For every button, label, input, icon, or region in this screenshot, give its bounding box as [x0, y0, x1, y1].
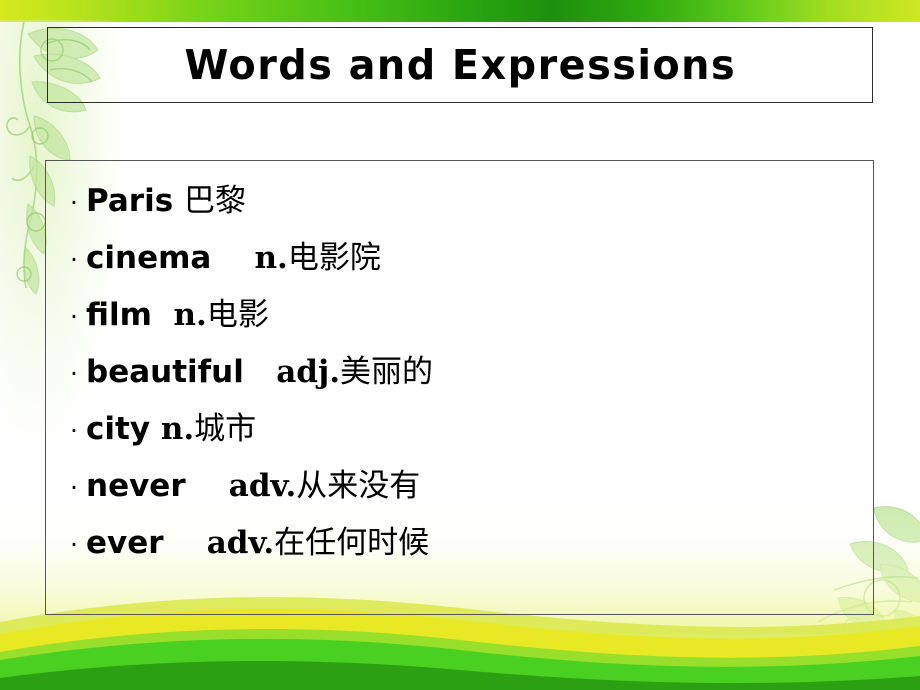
- word-text: cinema: [86, 240, 255, 276]
- vocabulary-entry: cinema n.电影院: [86, 232, 381, 277]
- page-title: Words and Expressions: [184, 41, 736, 89]
- bullet-icon: ·: [62, 532, 86, 557]
- vocabulary-entry: ever adv.在任何时候: [86, 517, 429, 562]
- vocabulary-entry: city n.城市: [86, 403, 256, 448]
- list-item: · Paris 巴黎: [46, 175, 873, 232]
- vocabulary-entry: film n.电影: [86, 289, 269, 334]
- chinese-meaning: 电影院: [288, 240, 381, 276]
- bullet-icon: ·: [62, 304, 86, 329]
- list-item: · ever adv.在任何时候: [46, 517, 873, 574]
- top-gradient-bar: [0, 0, 920, 22]
- part-of-speech: adj.: [276, 354, 340, 390]
- bullet-icon: ·: [62, 247, 86, 272]
- chinese-meaning: 美丽的: [340, 354, 433, 390]
- bullet-icon: ·: [62, 475, 86, 500]
- slide-canvas: Words and Expressions · Paris 巴黎 · cinem…: [0, 0, 920, 690]
- part-of-speech: n.: [174, 297, 207, 333]
- vocabulary-content-box: · Paris 巴黎 · cinema n.电影院 · film n.电影 · …: [45, 160, 874, 615]
- chinese-meaning: 巴黎: [184, 183, 246, 219]
- part-of-speech: n.: [161, 411, 194, 447]
- part-of-speech: n.: [255, 240, 288, 276]
- chinese-meaning: 城市: [194, 411, 256, 447]
- bullet-icon: ·: [62, 190, 86, 215]
- word-text: ever: [86, 525, 207, 561]
- bullet-icon: ·: [62, 361, 86, 386]
- chinese-meaning: 在任何时候: [274, 525, 429, 561]
- title-box: Words and Expressions: [47, 27, 873, 103]
- word-text: film: [86, 297, 174, 333]
- list-item: · film n.电影: [46, 289, 873, 346]
- word-text: city: [86, 411, 161, 447]
- word-text: never: [86, 468, 229, 504]
- word-text: Paris: [86, 183, 184, 219]
- vocabulary-entry: Paris 巴黎: [86, 175, 246, 220]
- word-text: beautiful: [86, 354, 276, 390]
- list-item: · beautiful adj.美丽的: [46, 346, 873, 403]
- vocabulary-list: · Paris 巴黎 · cinema n.电影院 · film n.电影 · …: [46, 175, 873, 574]
- chinese-meaning: 电影: [207, 297, 269, 333]
- list-item: · cinema n.电影院: [46, 232, 873, 289]
- vocabulary-entry: beautiful adj.美丽的: [86, 346, 433, 391]
- list-item: · never adv.从来没有: [46, 460, 873, 517]
- list-item: · city n.城市: [46, 403, 873, 460]
- part-of-speech: adv.: [229, 468, 296, 504]
- chinese-meaning: 从来没有: [296, 468, 420, 504]
- vocabulary-entry: never adv.从来没有: [86, 460, 420, 505]
- part-of-speech: adv.: [207, 525, 274, 561]
- bullet-icon: ·: [62, 418, 86, 443]
